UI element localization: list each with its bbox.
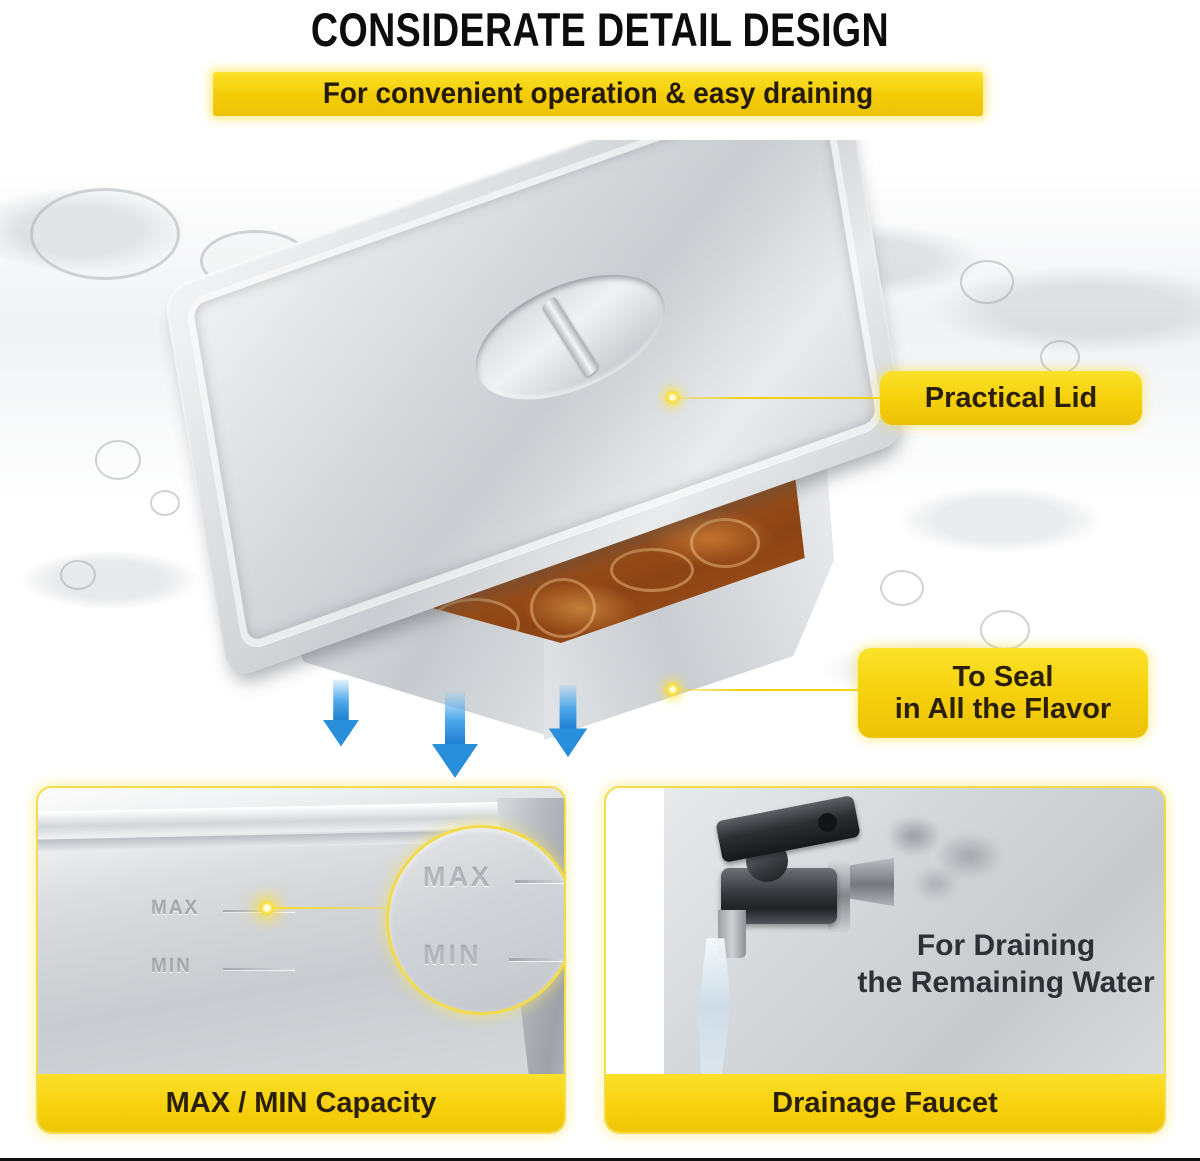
callout-to-seal-in-flavor: To Seal in All the Flavor — [858, 648, 1148, 738]
panel-caption-max-min: MAX / MIN Capacity — [38, 1074, 564, 1132]
magnifier-anchor-dot — [260, 901, 274, 915]
magnifier-circle: MAX MIN — [386, 825, 564, 1015]
arrow-head — [549, 729, 588, 758]
arrow-shaft — [560, 685, 577, 729]
panel-photo-faucet: For Draining the Remaining Water — [606, 788, 1164, 1074]
arrow-shaft — [333, 679, 349, 720]
magnified-max-label: MAX — [423, 862, 492, 893]
faucet-overlay-text: For Draining the Remaining Water — [856, 928, 1156, 1001]
callout-anchor-dot — [666, 391, 679, 404]
subtitle-text: For convenient operation & easy draining — [240, 72, 956, 116]
faucet-overlay-line1: For Draining — [917, 929, 1095, 962]
panel-photo-max-min: MAX MIN MAX MIN — [38, 788, 564, 1074]
callout-anchor-dot — [666, 683, 679, 696]
water-droplet — [95, 440, 141, 480]
downward-flow-arrow — [432, 692, 478, 778]
panel-drainage-faucet: For Draining the Remaining Water Drainag… — [604, 786, 1166, 1134]
water-droplet — [1040, 340, 1080, 374]
water-droplet — [980, 610, 1030, 650]
water-spray-blur — [874, 796, 1024, 906]
embossed-min-tick — [223, 968, 295, 971]
callout-practical-lid: Practical Lid — [880, 371, 1142, 425]
callout-seal-line1: To Seal — [952, 661, 1053, 693]
embossed-max-label: MAX — [151, 898, 199, 920]
water-droplet — [30, 188, 180, 280]
downward-flow-arrow — [323, 679, 359, 746]
page-title: CONSIDERATE DETAIL DESIGN — [120, 2, 1080, 57]
subtitle-badge: For convenient operation & easy draining — [213, 72, 983, 116]
callout-leader-line — [672, 689, 862, 691]
arrow-head — [323, 720, 359, 747]
water-droplet — [60, 560, 96, 590]
embossed-min-label: MIN — [151, 956, 192, 978]
magnified-min-label: MIN — [423, 940, 482, 971]
downward-flow-arrow — [549, 685, 588, 757]
panel-caption-faucet: Drainage Faucet — [606, 1074, 1164, 1132]
arrow-head — [432, 744, 478, 778]
callout-seal-line2: in All the Flavor — [895, 693, 1111, 725]
water-droplet — [960, 260, 1014, 304]
noodle — [690, 518, 760, 568]
panel-max-min-capacity: MAX MIN MAX MIN MAX / MIN Capacity — [36, 786, 566, 1134]
arrow-shaft — [445, 692, 465, 744]
noodle — [610, 548, 694, 592]
magnified-max-tick — [515, 880, 564, 884]
magnified-min-tick — [509, 958, 564, 962]
embossed-max-tick — [223, 910, 295, 913]
lid-handle-bar — [541, 296, 599, 378]
header: CONSIDERATE DETAIL DESIGN For convenient… — [0, 0, 1200, 140]
hero-product-image: Practical Lid To Seal in All the Flavor — [0, 140, 1200, 780]
callout-leader-line — [672, 397, 884, 399]
faucet-overlay-line2: the Remaining Water — [857, 966, 1154, 999]
water-droplet — [880, 570, 924, 606]
water-droplet — [150, 490, 180, 516]
noodle — [530, 578, 596, 638]
